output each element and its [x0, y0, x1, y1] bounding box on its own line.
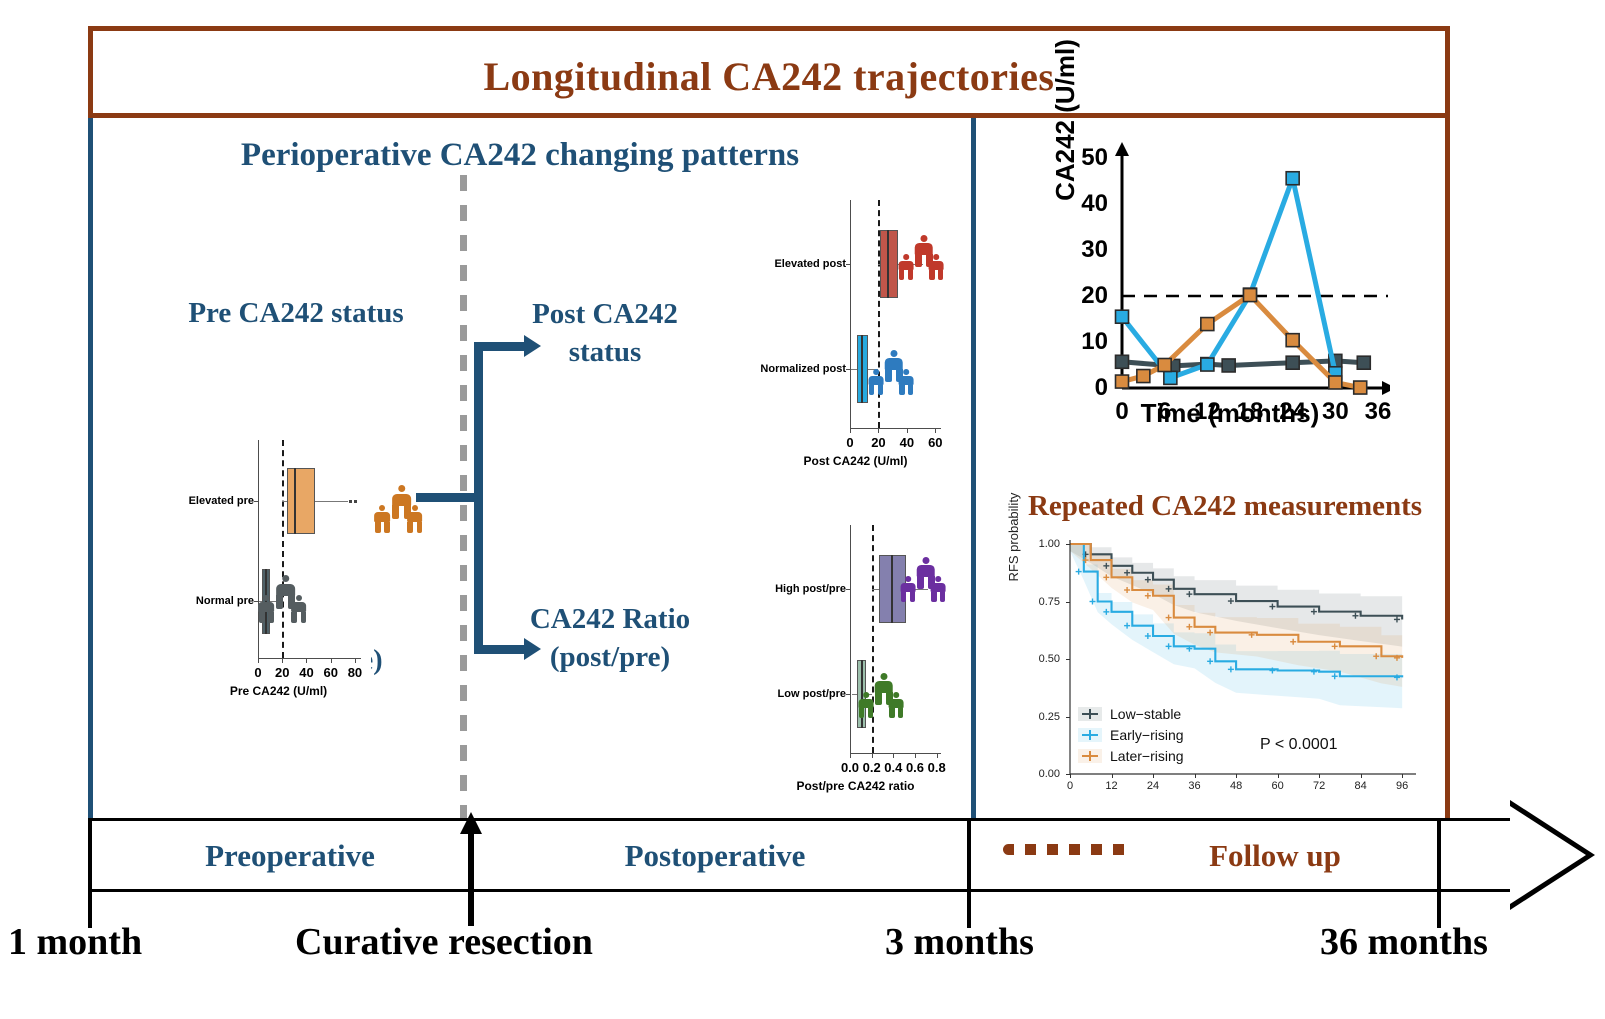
person-icon: [290, 595, 307, 622]
km-y-ticklabel: 0.50: [1010, 653, 1060, 665]
km-x-ticklabel: 24: [1133, 780, 1173, 792]
timeline-label-followup: Follow up: [1150, 838, 1400, 874]
person-icon: [928, 254, 944, 280]
boxplot-x-axis-label: Post CA242 (U/ml): [758, 454, 953, 468]
boxplot-x-tick: [850, 428, 851, 433]
pre-status-heading: Pre CA242 status: [166, 297, 426, 330]
trajectory-y-ticklabel: 40: [1060, 190, 1108, 218]
follow-up-dots-icon: [1003, 844, 1133, 855]
timeline-label-postoperative: Postoperative: [500, 838, 930, 874]
panel-divider: [971, 118, 976, 818]
boxplot-category-tick: [846, 589, 851, 590]
boxplot-x-tick: [282, 658, 283, 663]
boxplot-x-tick: [907, 428, 908, 433]
boxplot-x-ticklabel: 80: [335, 665, 375, 680]
timeline-tick-1month: [88, 818, 92, 928]
km-x-ticklabel: 60: [1258, 780, 1298, 792]
boxplot-x-tick: [850, 753, 851, 758]
boxplot-category-label: High post/pre: [754, 583, 846, 595]
page-title: Longitudinal CA242 trajectories: [93, 31, 1445, 123]
people-group-icon: [374, 485, 435, 543]
people-group-icon: [868, 350, 926, 404]
post-ca242-boxplot: 0204060Post CA242 (U/ml)Elevated postNor…: [758, 190, 953, 480]
trajectory-marker: [1137, 370, 1150, 383]
trajectory-y-ticklabel: 30: [1060, 236, 1108, 264]
trajectory-marker: [1354, 381, 1367, 394]
trajectory-x-arrowhead: [1382, 381, 1390, 395]
perioperative-heading: Perioperative CA242 changing patterns: [200, 137, 840, 174]
km-y-ticklabel: 0.75: [1010, 596, 1060, 608]
boxplot-median: [861, 335, 863, 403]
boxplot-outliers: [349, 500, 357, 503]
km-y-ticklabel: 0.00: [1010, 768, 1060, 780]
boxplot-category-label: Elevated pre: [162, 495, 254, 507]
trajectory-marker: [1357, 356, 1370, 369]
post-status-heading: Post CA242 status: [500, 295, 710, 371]
people-group-icon: [258, 575, 319, 633]
person-icon: [888, 692, 904, 718]
km-x-ticklabel: 72: [1299, 780, 1339, 792]
trajectory-marker: [1244, 289, 1257, 302]
curative-resection-arrow-icon: [460, 812, 482, 834]
boxplot-x-tick: [935, 428, 936, 433]
km-x-tick: [1278, 774, 1279, 778]
trajectory-y-ticklabel: 10: [1060, 328, 1108, 356]
trajectory-x-ticklabel: 36: [1353, 398, 1403, 426]
trajectory-marker: [1329, 376, 1342, 389]
boxplot-category-tick: [846, 694, 851, 695]
timeline-label-preoperative: Preoperative: [125, 838, 455, 874]
timeline-caption-3months: 3 months: [885, 920, 1034, 964]
timeline-caption-36months: 36 months: [1320, 920, 1488, 964]
boxplot-x-axis-label: Pre CA242 (U/ml): [186, 684, 371, 698]
arrow-to-post-status-icon: [524, 335, 541, 357]
trajectory-marker: [1286, 334, 1299, 347]
branch-connector-top: [474, 342, 526, 351]
trajectory-marker: [1116, 310, 1129, 323]
trajectory-marker: [1201, 358, 1214, 371]
people-group-icon: [858, 673, 916, 727]
trajectory-marker: [1286, 356, 1299, 369]
km-y-tick: [1066, 544, 1070, 545]
person-icon: [898, 369, 914, 395]
km-y-tick: [1066, 602, 1070, 603]
km-x-ticklabel: 96: [1382, 780, 1422, 792]
boxplot-category-tick: [846, 264, 851, 265]
boxplot-category-tick: [254, 501, 259, 502]
branch-connector-bottom: [474, 645, 526, 654]
trajectory-marker: [1201, 318, 1214, 331]
person-icon: [930, 576, 946, 602]
boxplot-category-label: Low post/pre: [754, 688, 846, 700]
timeline-caption-resection: Curative resection: [295, 920, 593, 964]
pre-ca242-boxplot: 020406080Pre CA242 (U/ml)Elevated preNor…: [186, 430, 371, 710]
boxplot-category-tick: [846, 369, 851, 370]
arrow-to-ratio-icon: [524, 638, 541, 660]
km-x-tick: [1153, 774, 1154, 778]
person-icon: [868, 369, 884, 395]
km-x-tick: [1319, 774, 1320, 778]
km-y-ticklabel: 0.25: [1010, 711, 1060, 723]
km-y-ticklabel: 1.00: [1010, 538, 1060, 550]
boxplot-x-ticklabel: 0.8: [917, 760, 957, 775]
trajectory-y-ticklabel: 50: [1060, 144, 1108, 172]
km-rfs-curve: RFS probability Low−stable Early−rising …: [1010, 528, 1430, 818]
boxplot-category-label: Elevated post: [754, 258, 846, 270]
boxplot-x-tick: [937, 753, 938, 758]
people-group-icon: [900, 557, 958, 611]
boxplot-x-axis: [850, 428, 941, 429]
boxplot-y-axis: [850, 200, 851, 428]
boxplot-x-axis-label: Post/pre CA242 ratio: [758, 779, 953, 793]
km-x-ticklabel: 48: [1216, 780, 1256, 792]
boxplot-x-tick: [878, 428, 879, 433]
trajectory-y-arrowhead: [1115, 142, 1129, 156]
km-y-tick: [1066, 659, 1070, 660]
boxplot-x-tick: [893, 753, 894, 758]
trajectory-marker: [1158, 359, 1171, 372]
curative-resection-arrow-shaft: [468, 826, 474, 926]
km-y-tick: [1066, 717, 1070, 718]
trajectory-marker: [1116, 375, 1129, 388]
person-icon: [258, 595, 275, 622]
km-x-tick: [1236, 774, 1237, 778]
timeline-tick-36months: [1437, 818, 1441, 928]
timeline-caption-1month: 1 month: [8, 920, 142, 964]
trajectory-marker: [1116, 355, 1129, 368]
timeline-tick-3months: [967, 818, 971, 928]
boxplot-x-tick: [306, 658, 307, 663]
boxplot-x-tick: [355, 658, 356, 663]
boxplot-x-tick: [258, 658, 259, 663]
boxplot-median: [887, 230, 889, 298]
person-icon: [898, 254, 914, 280]
boxplot-median: [294, 468, 296, 533]
km-x-ticklabel: 84: [1341, 780, 1381, 792]
km-x-tick: [1195, 774, 1196, 778]
boxplot-category-label: Normalized post: [754, 363, 846, 375]
trajectory-marker: [1286, 172, 1299, 185]
boxplot-x-tick: [872, 753, 873, 758]
boxplot-y-axis: [850, 525, 851, 753]
km-x-ticklabel: 0: [1050, 780, 1090, 792]
boxplot-box: [880, 230, 898, 298]
boxplot-x-tick: [915, 753, 916, 758]
person-icon: [374, 505, 391, 532]
boxplot-category-label: Normal pre: [162, 595, 254, 607]
people-group-icon: [898, 235, 956, 289]
person-icon: [406, 505, 423, 532]
boxplot-box: [287, 468, 315, 533]
boxplot-x-tick: [331, 658, 332, 663]
km-x-ticklabel: 12: [1092, 780, 1132, 792]
boxplot-x-ticklabel: 60: [915, 435, 955, 450]
km-x-tick: [1070, 774, 1071, 778]
ratio-boxplot: 0.00.20.40.60.8Post/pre CA242 ratioHigh …: [758, 515, 953, 805]
km-x-ticklabel: 36: [1175, 780, 1215, 792]
person-icon: [858, 692, 874, 718]
km-plot-area: [1010, 528, 1430, 818]
boxplot-x-axis: [850, 753, 941, 754]
boxplot-median: [891, 555, 893, 623]
trajectory-marker: [1222, 359, 1235, 372]
km-x-tick: [1112, 774, 1113, 778]
figure-title-box: Longitudinal CA242 trajectories: [88, 26, 1450, 118]
trajectory-y-ticklabel: 20: [1060, 282, 1108, 310]
ca242-trajectory-chart: CA242 (U/ml) Time (months) 0102030405006…: [1060, 140, 1390, 450]
km-x-tick: [1402, 774, 1403, 778]
trajectory-marker: [1164, 371, 1177, 384]
timeline-arrow-inner-icon: [1510, 806, 1586, 904]
km-x-tick: [1361, 774, 1362, 778]
person-icon: [900, 576, 916, 602]
repeated-measurements-heading: Repeated CA242 measurements: [1000, 490, 1450, 523]
boxplot-x-axis: [258, 658, 361, 659]
